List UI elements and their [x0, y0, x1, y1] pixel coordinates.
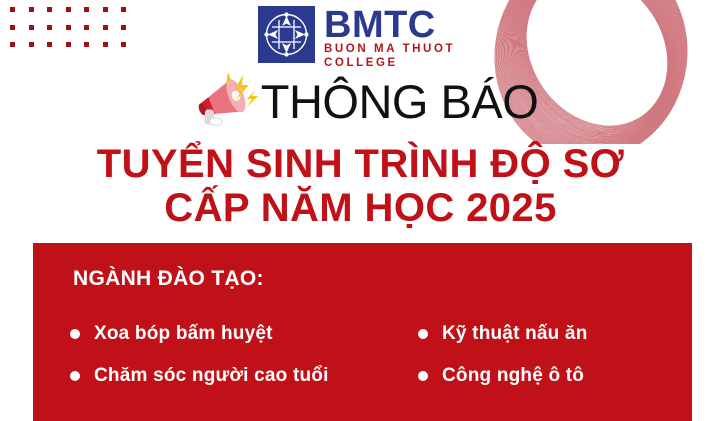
dot	[121, 7, 126, 12]
dot	[103, 7, 108, 12]
dot	[66, 25, 71, 30]
dot	[10, 42, 15, 47]
dot	[121, 42, 126, 47]
program-label: Chăm sóc người cao tuổi	[94, 365, 329, 387]
logo-title: BMTC	[324, 7, 455, 43]
bullet-icon	[418, 371, 428, 381]
dot	[10, 25, 15, 30]
dot	[29, 42, 34, 47]
programs-column-left: Xoa bóp bấm huyệt Chăm sóc người cao tuổ…	[70, 313, 410, 397]
bullet-icon	[70, 329, 80, 339]
page-title: TUYỂN SINH TRÌNH ĐỘ SƠ CẤP NĂM HỌC 2025	[0, 142, 721, 230]
dot	[84, 25, 89, 30]
programs-heading: NGÀNH ĐÀO TẠO:	[73, 267, 264, 291]
bullet-icon	[70, 371, 80, 381]
announcement-poster: BMTC BUON MA THUOT COLLEGE THÔNG BÁO TUY…	[0, 0, 721, 421]
dot	[47, 25, 52, 30]
program-label: Kỹ thuật nấu ăn	[442, 323, 588, 345]
programs-panel: NGÀNH ĐÀO TẠO: Xoa bóp bấm huyệt Chăm só…	[33, 243, 692, 421]
dot	[47, 42, 52, 47]
dot-grid-icon	[10, 7, 145, 67]
program-label: Xoa bóp bấm huyệt	[94, 323, 273, 345]
list-item: Kỹ thuật nấu ăn	[418, 313, 698, 355]
dot	[103, 25, 108, 30]
dot	[66, 42, 71, 47]
bmtc-logo: BMTC BUON MA THUOT COLLEGE	[258, 6, 455, 70]
logo-subtitle-line1: BUON MA THUOT	[324, 43, 455, 57]
dot	[10, 7, 15, 12]
programs-column-right: Kỹ thuật nấu ăn Công nghệ ô tô	[418, 313, 698, 397]
dot	[66, 7, 71, 12]
dot	[121, 25, 126, 30]
dot	[103, 42, 108, 47]
program-label: Công nghệ ô tô	[442, 365, 584, 387]
announcement-title: THÔNG BÁO	[261, 78, 539, 125]
bmtc-compass-emblem-icon	[258, 6, 315, 63]
dot	[29, 25, 34, 30]
megaphone-icon	[183, 70, 263, 132]
logo-subtitle-line2: COLLEGE	[324, 57, 455, 71]
dot	[47, 7, 52, 12]
list-item: Xoa bóp bấm huyệt	[70, 313, 410, 355]
list-item: Chăm sóc người cao tuổi	[70, 355, 410, 397]
list-item: Công nghệ ô tô	[418, 355, 698, 397]
bullet-icon	[418, 329, 428, 339]
headline-line-2: CẤP NĂM HỌC 2025	[0, 186, 721, 230]
headline-line-1: TUYỂN SINH TRÌNH ĐỘ SƠ	[0, 142, 721, 186]
announcement-header: THÔNG BÁO	[0, 70, 721, 132]
logo-text-block: BMTC BUON MA THUOT COLLEGE	[324, 6, 455, 70]
dot	[84, 42, 89, 47]
dot	[29, 7, 34, 12]
dot	[84, 7, 89, 12]
